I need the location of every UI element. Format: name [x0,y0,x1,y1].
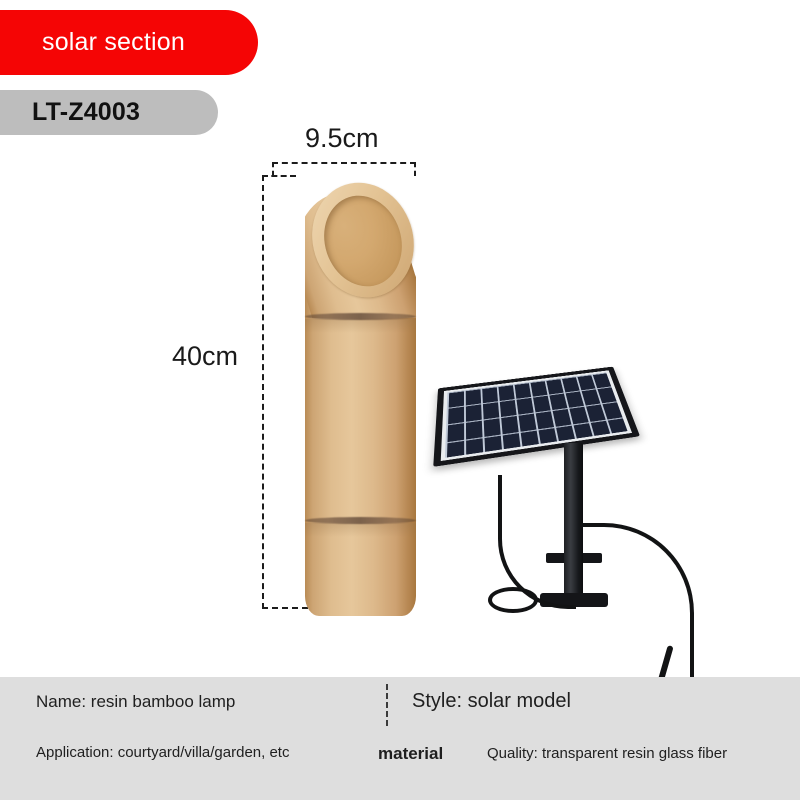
info-material: material [378,744,443,764]
solar-panel-inner-frame [441,370,632,461]
solar-cell-gridlines [445,372,628,457]
info-quality: Quality: transparent resin glass fiber [487,745,727,762]
solar-panel-assembly [430,315,690,645]
bamboo-node-shadow-upper [305,319,416,333]
width-bracket-line [272,162,416,164]
solar-cable-right [580,523,694,687]
bamboo-node-upper [305,313,416,320]
info-name: Name: resin bamboo lamp [36,692,235,712]
bamboo-lamp-product [295,168,423,616]
info-style: Style: solar model [412,690,571,713]
badge-model: LT-Z4003 [0,90,218,135]
dimension-width-label: 9.5cm [305,123,379,154]
info-divider [386,684,388,726]
solar-cable-loop [488,587,538,613]
bamboo-node-lower [305,517,416,524]
badge-model-label: LT-Z4003 [32,98,140,127]
height-bracket-tick-top [262,175,296,177]
dimension-height-label: 40cm [172,341,238,372]
bamboo-node-shadow-lower [305,523,416,537]
solar-panel [433,367,640,467]
width-bracket-tick-left [272,162,274,176]
height-bracket-line [262,175,264,609]
product-image-canvas: solar section LT-Z4003 9.5cm 40cm [0,0,800,800]
badge-category-label: solar section [42,28,185,57]
info-application: Application: courtyard/villa/garden, etc [36,744,289,761]
badge-category: solar section [0,10,258,75]
